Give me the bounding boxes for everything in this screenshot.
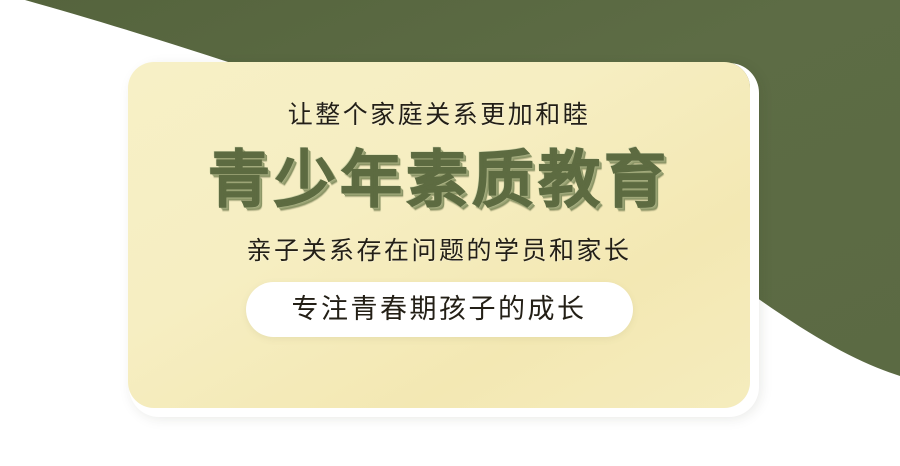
tagline-label: 专注青春期孩子的成长	[292, 296, 587, 323]
tagline-pill: 专注青春期孩子的成长	[246, 282, 633, 337]
page-title: 青少年素质教育	[208, 150, 670, 212]
eyebrow-text: 让整个家庭关系更加和睦	[288, 103, 591, 128]
promo-banner: 让整个家庭关系更加和睦 青少年素质教育 亲子关系存在问题的学员和家长 专注青春期…	[0, 0, 900, 466]
content-card: 让整个家庭关系更加和睦 青少年素质教育 亲子关系存在问题的学员和家长 专注青春期…	[128, 62, 750, 408]
audience-text: 亲子关系存在问题的学员和家长	[246, 239, 631, 264]
